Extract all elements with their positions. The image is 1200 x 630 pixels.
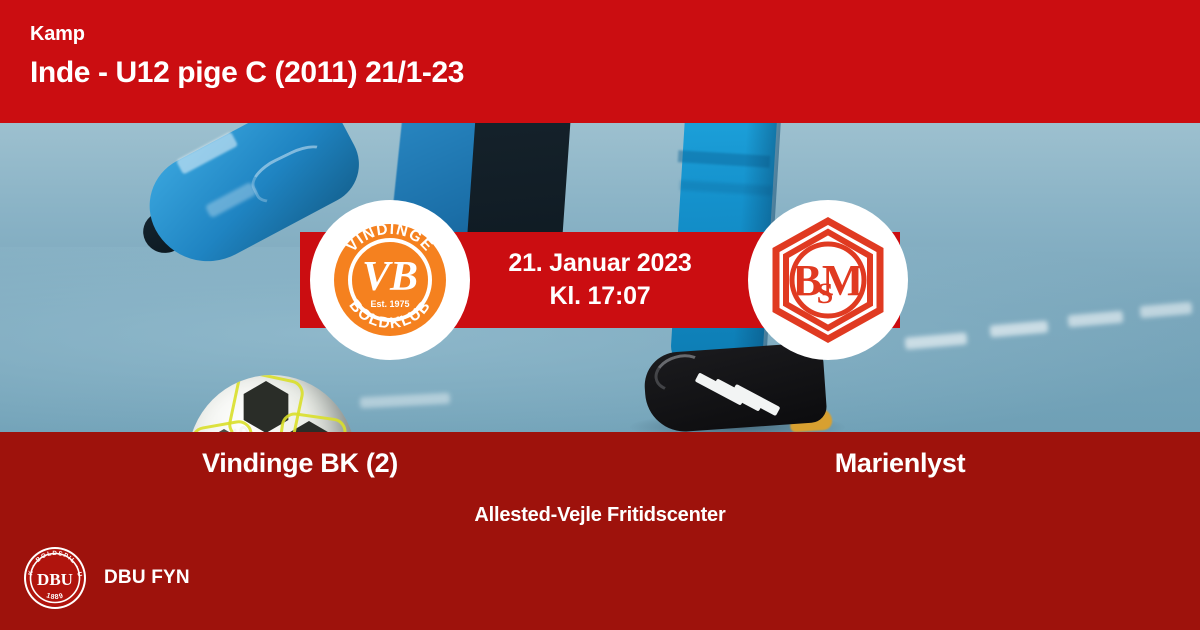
svg-text:DBU: DBU <box>37 570 73 589</box>
svg-text:VB: VB <box>362 254 418 300</box>
away-team-name: Marienlyst <box>600 448 1200 479</box>
page-title: Inde - U12 pige C (2011) 21/1-23 <box>30 54 1200 92</box>
match-poster: Kamp Inde - U12 pige C (2011) 21/1-23 <box>0 0 1200 630</box>
dbu-badge-icon: DANSK · BOLDSPIL · UNION DBU 1889 <box>22 545 88 611</box>
marienlyst-crest-icon: BM S <box>763 215 893 345</box>
vindinge-boldklub-crest-icon: VINDINGE BOLDKLUB VB Est. 1975 <box>322 212 458 348</box>
home-team-name: Vindinge BK (2) <box>0 448 600 479</box>
svg-text:S: S <box>817 277 834 310</box>
match-date: 21. Januar 2023 <box>508 247 691 280</box>
dbu-brand-label: DBU FYN <box>104 567 190 589</box>
svg-text:Est. 1975: Est. 1975 <box>370 299 409 309</box>
match-time: Kl. 17:07 <box>549 280 650 313</box>
away-team-logo[interactable]: BM S <box>748 200 908 360</box>
header-kicker: Kamp <box>30 22 1200 46</box>
home-team-logo[interactable]: VINDINGE BOLDKLUB VB Est. 1975 <box>310 200 470 360</box>
dbu-brand[interactable]: DANSK · BOLDSPIL · UNION DBU 1889 DBU FY… <box>22 545 190 611</box>
header-bar: Kamp Inde - U12 pige C (2011) 21/1-23 <box>0 0 1200 123</box>
team-names-row: Vindinge BK (2) Marienlyst <box>0 448 1200 479</box>
venue-name: Allested-Vejle Fritidscenter <box>0 504 1200 527</box>
